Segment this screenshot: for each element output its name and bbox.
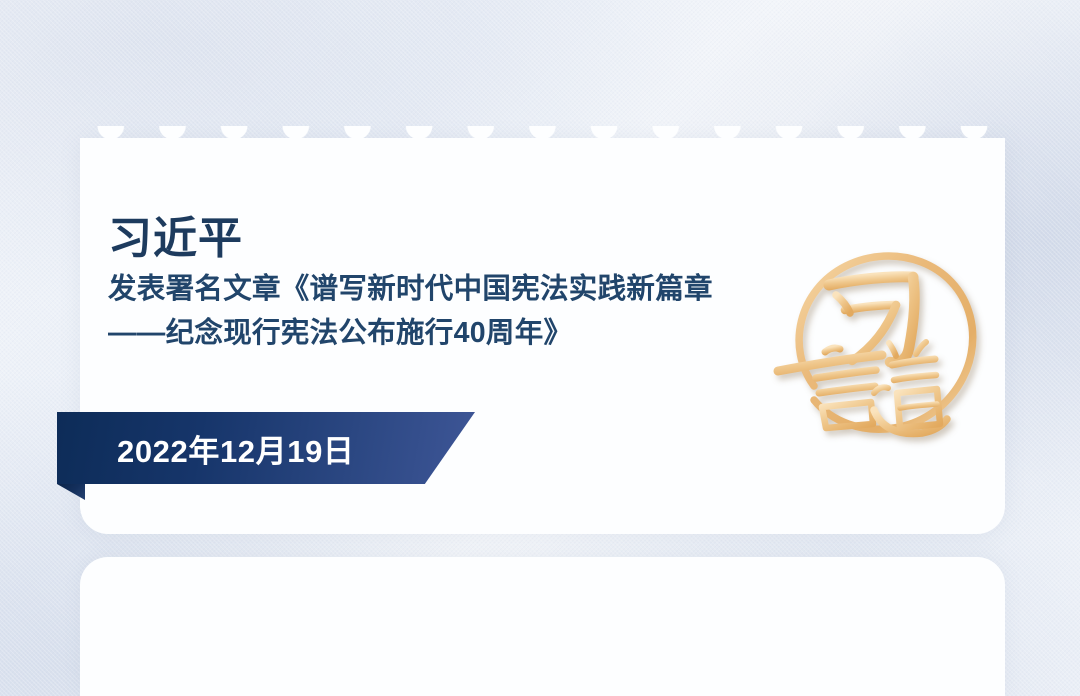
date-ribbon: 2022年12月19日 xyxy=(57,412,475,484)
card-scalloped-top-edge xyxy=(80,126,1005,152)
person-name: 习近平 xyxy=(108,214,768,263)
headline-block: 习近平 发表署名文章《谱写新时代中国宪法实践新篇章 ——纪念现行宪法公布施行40… xyxy=(108,214,768,355)
headline-line-1: 发表署名文章《谱写新时代中国宪法实践新篇章 xyxy=(108,268,768,311)
xi-yan-dao-seal xyxy=(770,238,990,458)
secondary-card xyxy=(80,557,1005,696)
poster-canvas: 习近平 发表署名文章《谱写新时代中国宪法实践新篇章 ——纪念现行宪法公布施行40… xyxy=(0,0,1080,696)
headline-line-2: ——纪念现行宪法公布施行40周年》 xyxy=(108,312,768,355)
date-label: 2022年12月19日 xyxy=(117,412,355,484)
